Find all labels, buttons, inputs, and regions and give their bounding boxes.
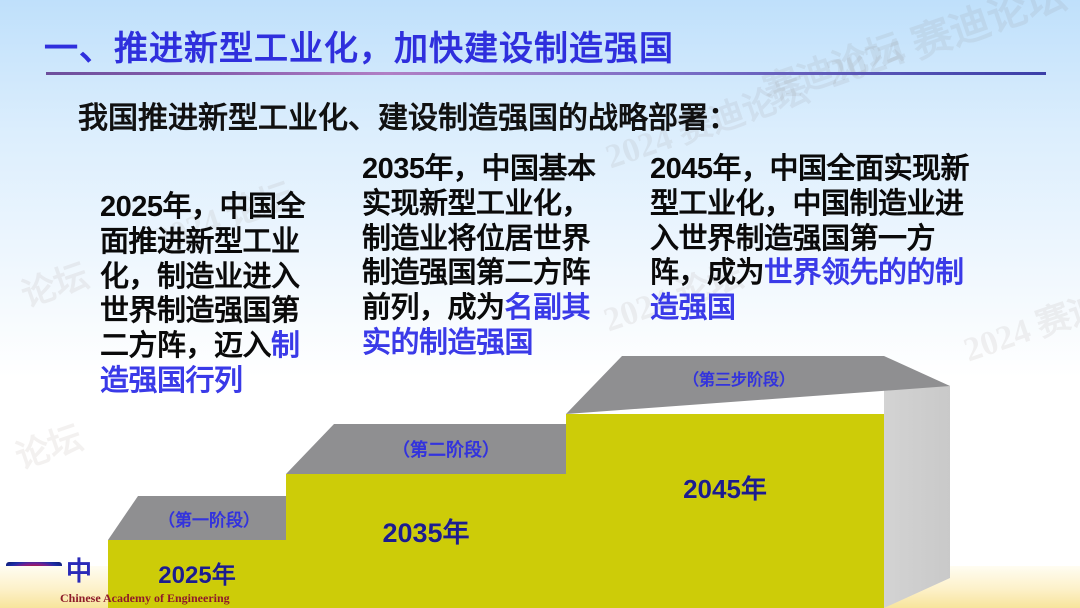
title-divider [46,72,1046,75]
slide-title: 一、推进新型工业化，加快建设制造强国 [44,21,674,70]
column-3-text: 2045年，中国全面实现新型工业化，中国制造业进入世界制造强国第一方阵，成为世界… [650,152,990,326]
slide-canvas: 2024 赛迪论坛赛迪论坛2024 赛迪论坛论坛2024 论坛论坛2024 赛迪… [0,0,1080,608]
step-1-year-label: 2025年 [158,555,235,590]
step-2-year-label: 2035年 [382,511,469,550]
step-2-stage-label: （第二阶段） [326,436,566,462]
column-1-text: 2025年，中国全面推进新型工业化，制造业进入世界制造强国第二方阵，迈入制造强国… [100,190,324,399]
step-1-stage-label: （第一阶段） [132,506,286,531]
step-1-top: （第一阶段） [108,496,286,540]
column-2-text: 2035年，中国基本实现新型工业化，制造业将位居世界制造强国第二方阵前列，成为名… [362,152,616,361]
step-3-side [884,364,950,608]
step-3-year-label: 2045年 [683,469,767,506]
step-2: （第二阶段） 2035年 [286,424,566,608]
step-3: （第三步阶段） 2045年 [566,356,944,608]
step-2-top: （第二阶段） [286,424,566,474]
slide-subtitle: 我国推进新型工业化、建设制造强国的战略部署： [78,93,738,137]
step-3-stage-label: （第三步阶段） [598,366,880,390]
step-2-front: 2035年 [286,474,566,608]
step-3-front: 2045年 [566,414,884,608]
org-name-en: Chinese Academy of Engineering [60,591,230,606]
